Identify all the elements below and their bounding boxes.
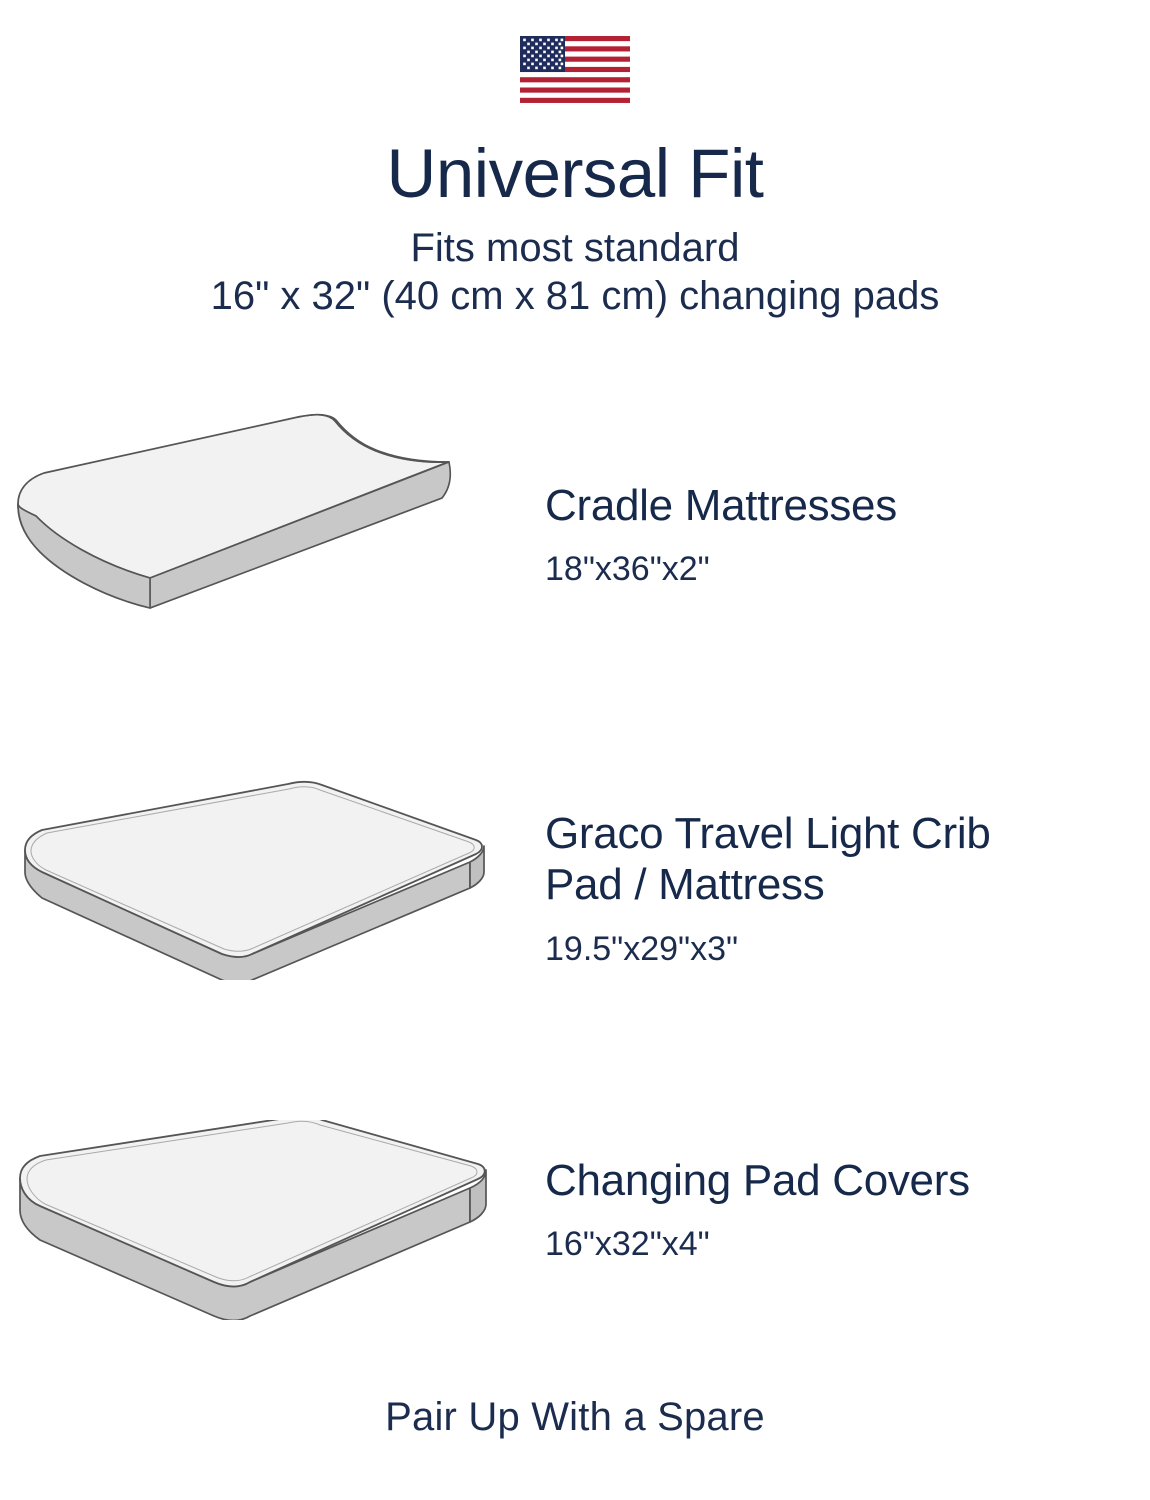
footer-tagline: Pair Up With a Spare (0, 1395, 1150, 1440)
usa-flag-icon (520, 36, 630, 103)
subtitle-line-1: Fits most standard (410, 226, 739, 270)
product-row: Changing Pad Covers 16"x32"x4" (0, 1120, 1150, 1320)
product-info: Graco Travel Light Crib Pad / Mattress 1… (545, 780, 1150, 970)
contoured-changing-pad-icon (0, 400, 545, 630)
subtitle-line-2: 16" x 32" (40 cm x 81 cm) changing pads (0, 272, 1150, 321)
product-row: Graco Travel Light Crib Pad / Mattress 1… (0, 780, 1150, 980)
page-title: Universal Fit (0, 137, 1150, 212)
page-subtitle: Fits most standard 16" x 32" (40 cm x 81… (0, 224, 1150, 322)
product-name-line-2: Pad / Mattress (545, 860, 824, 909)
product-info: Cradle Mattresses 18"x36"x2" (545, 400, 1150, 590)
product-name: Cradle Mattresses (545, 480, 1150, 531)
footer: Pair Up With a Spare (0, 1395, 1150, 1440)
product-info: Changing Pad Covers 16"x32"x4" (545, 1120, 1150, 1265)
product-row: Cradle Mattresses 18"x36"x2" (0, 400, 1150, 630)
product-name: Graco Travel Light Crib Pad / Mattress (545, 808, 1150, 911)
product-dimensions: 16"x32"x4" (545, 1224, 1150, 1265)
product-name: Changing Pad Covers (545, 1155, 1150, 1206)
product-name-line-1: Graco Travel Light Crib (545, 809, 991, 858)
thick-mattress-icon (0, 1120, 545, 1320)
flat-mattress-icon (0, 780, 545, 980)
flag-container (0, 36, 1150, 103)
header: Universal Fit Fits most standard 16" x 3… (0, 137, 1150, 321)
product-dimensions: 18"x36"x2" (545, 549, 1150, 590)
product-dimensions: 19.5"x29"x3" (545, 929, 1150, 970)
